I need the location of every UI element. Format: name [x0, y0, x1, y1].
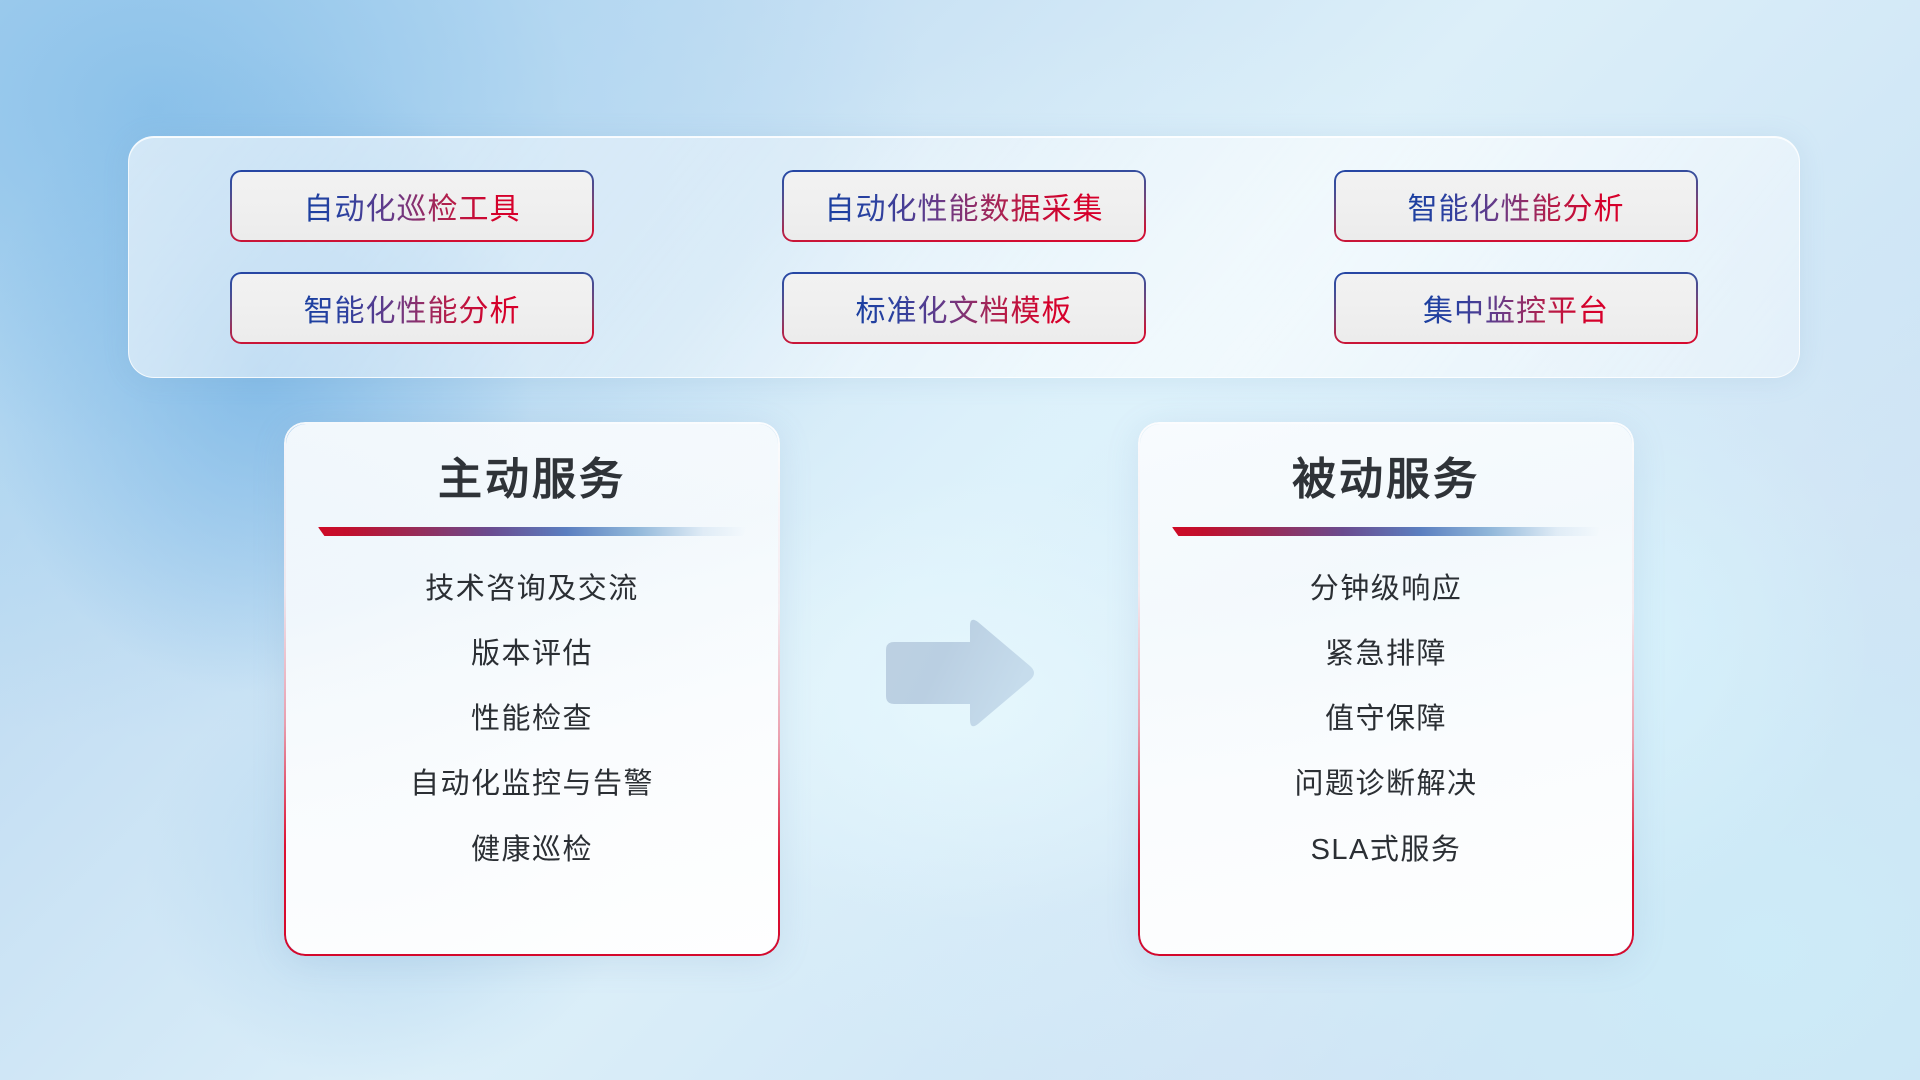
service-item: 健康巡检 — [471, 831, 593, 870]
capability-chip[interactable]: 智能化性能分析 — [232, 274, 592, 342]
capability-panel: 自动化巡检工具 自动化性能数据采集 智能化性能分析 智能化性能分析 标准化文档模… — [128, 136, 1800, 378]
capability-chip[interactable]: 智能化性能分析 — [1336, 172, 1696, 240]
title-divider — [1172, 527, 1600, 536]
title-divider — [318, 527, 746, 536]
service-item: 版本评估 — [471, 635, 593, 674]
service-item: 技术咨询及交流 — [425, 570, 639, 609]
capability-chip-label: 标准化文档模板 — [856, 286, 1073, 330]
service-card-body: 主动服务 技术咨询及交流 版本评估 性能检查 自动化监控与告警 健康巡检 — [286, 424, 778, 954]
capability-chip[interactable]: 自动化性能数据采集 — [784, 172, 1144, 240]
service-card-title: 被动服务 — [1292, 452, 1480, 507]
service-item: 问题诊断解决 — [1294, 765, 1477, 804]
arrow-right-icon — [878, 614, 1038, 732]
service-card-passive[interactable]: 被动服务 分钟级响应 紧急排障 值守保障 问题诊断解决 SLA式服务 — [1140, 424, 1632, 954]
service-item: 值守保障 — [1325, 700, 1447, 739]
service-item-list: 分钟级响应 紧急排障 值守保障 问题诊断解决 SLA式服务 — [1140, 570, 1632, 870]
service-card-body: 被动服务 分钟级响应 紧急排障 值守保障 问题诊断解决 SLA式服务 — [1140, 424, 1632, 954]
service-card-active[interactable]: 主动服务 技术咨询及交流 版本评估 性能检查 自动化监控与告警 健康巡检 — [286, 424, 778, 954]
service-item: 性能检查 — [471, 700, 593, 739]
capability-chip-grid: 自动化巡检工具 自动化性能数据采集 智能化性能分析 智能化性能分析 标准化文档模… — [232, 172, 1696, 342]
capability-chip-label: 集中监控平台 — [1423, 286, 1609, 330]
capability-chip-label: 智能化性能分析 — [304, 286, 521, 330]
slide-canvas: 自动化巡检工具 自动化性能数据采集 智能化性能分析 智能化性能分析 标准化文档模… — [0, 0, 1920, 1080]
capability-chip[interactable]: 集中监控平台 — [1336, 274, 1696, 342]
capability-chip-label: 智能化性能分析 — [1408, 184, 1625, 228]
capability-chip[interactable]: 标准化文档模板 — [784, 274, 1144, 342]
capability-chip-label: 自动化巡检工具 — [304, 184, 521, 228]
service-item-list: 技术咨询及交流 版本评估 性能检查 自动化监控与告警 健康巡检 — [286, 570, 778, 870]
service-card-title: 主动服务 — [438, 452, 626, 507]
service-item: SLA式服务 — [1311, 831, 1462, 870]
service-item: 紧急排障 — [1325, 635, 1447, 674]
capability-chip[interactable]: 自动化巡检工具 — [232, 172, 592, 240]
capability-chip-label: 自动化性能数据采集 — [825, 184, 1104, 228]
service-item: 分钟级响应 — [1310, 570, 1463, 609]
service-item: 自动化监控与告警 — [410, 765, 654, 804]
